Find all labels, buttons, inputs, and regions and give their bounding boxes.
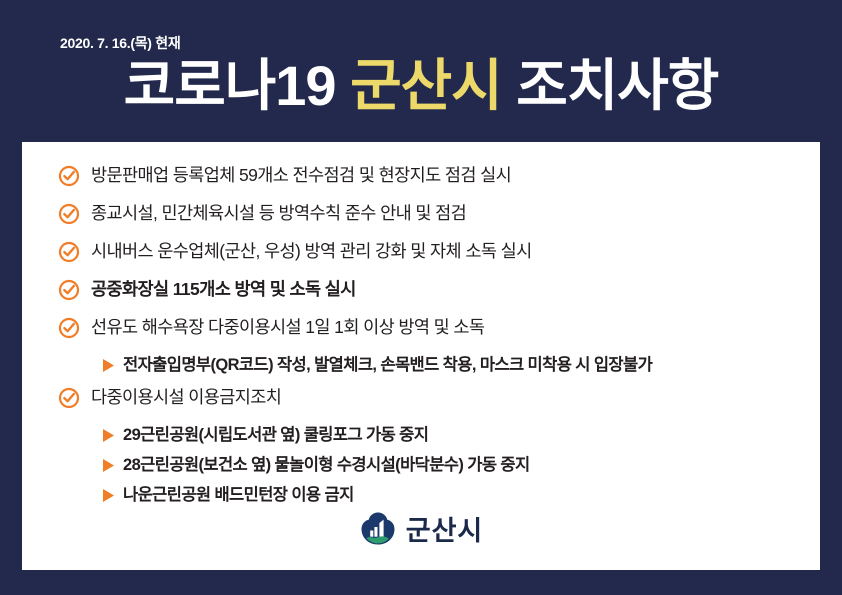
list-item-label: 시내버스 운수업체(군산, 우성) 방역 관리 강화 및 자체 소독 실시 — [91, 238, 532, 265]
title-part-covid: 코로나19 — [124, 54, 336, 117]
measure-group: 다중이용시설 이용금지조치 29근린공원(시립도서관 옆) 쿨링포그 가동 중지 — [58, 384, 798, 512]
check-circle-icon — [58, 317, 80, 339]
title-part-city: 군산시 — [350, 54, 502, 117]
date-label: 2020. 7. 16.(목) 현재 — [60, 33, 180, 53]
sub-list-item-label: 29근린공원(시립도서관 옆) 쿨링포그 가동 중지 — [123, 422, 428, 448]
list-item: 시내버스 운수업체(군산, 우성) 방역 관리 강화 및 자체 소독 실시 — [58, 238, 798, 274]
list-item-label: 공중화장실 115개소 방역 및 소독 실시 — [91, 276, 356, 303]
check-circle-icon — [58, 387, 80, 409]
list-item-label: 종교시설, 민간체육시설 등 방역수칙 준수 안내 및 점검 — [91, 200, 466, 227]
sub-list-item-label: 나운근린공원 배드민턴장 이용 금지 — [123, 482, 354, 508]
check-circle-icon — [58, 203, 80, 225]
list-item: 방문판매업 등록업체 59개소 전수점검 및 현장지도 점검 실시 — [58, 162, 798, 198]
poster-root: 2020. 7. 16.(목) 현재 코로나19 군산시 조치사항 방문판매업 … — [0, 0, 842, 595]
footer-logo-label: 군산시 — [406, 509, 484, 548]
list-item: 종교시설, 민간체육시설 등 방역수칙 준수 안내 및 점검 — [58, 200, 798, 236]
measure-group: 시내버스 운수업체(군산, 우성) 방역 관리 강화 및 자체 소독 실시 — [58, 238, 798, 274]
title-part-measures: 조치사항 — [516, 54, 718, 117]
triangle-bullet-icon — [103, 429, 114, 442]
measure-group: 종교시설, 민간체육시설 등 방역수칙 준수 안내 및 점검 — [58, 200, 798, 236]
measure-group: 공중화장실 115개소 방역 및 소독 실시 — [58, 276, 798, 312]
triangle-bullet-icon — [103, 359, 114, 372]
gunsan-city-logo-icon — [359, 510, 397, 548]
sub-list-item: 전자출입명부(QR코드) 작성, 발열체크, 손목밴드 착용, 마스크 미착용 … — [103, 352, 798, 382]
check-circle-icon — [58, 279, 80, 301]
page-title: 코로나19 군산시 조치사항 — [0, 58, 842, 114]
sub-list-item: 나운근린공원 배드민턴장 이용 금지 — [103, 482, 798, 512]
measure-group: 선유도 해수욕장 다중이용시설 1일 1회 이상 방역 및 소독 전자출입명부(… — [58, 314, 798, 382]
measure-group: 방문판매업 등록업체 59개소 전수점검 및 현장지도 점검 실시 — [58, 162, 798, 198]
list-item: 선유도 해수욕장 다중이용시설 1일 1회 이상 방역 및 소독 — [58, 314, 798, 350]
footer-logo: 군산시 — [22, 509, 820, 548]
list-item-label: 선유도 해수욕장 다중이용시설 1일 1회 이상 방역 및 소독 — [91, 314, 484, 341]
list-item-label: 다중이용시설 이용금지조치 — [91, 384, 281, 411]
check-circle-icon — [58, 165, 80, 187]
poster-header: 2020. 7. 16.(목) 현재 코로나19 군산시 조치사항 — [0, 0, 842, 142]
triangle-bullet-icon — [103, 489, 114, 502]
sub-list-item: 29근린공원(시립도서관 옆) 쿨링포그 가동 중지 — [103, 422, 798, 452]
measures-list: 방문판매업 등록업체 59개소 전수점검 및 현장지도 점검 실시 종교시설, … — [58, 162, 798, 514]
sub-list-item-label: 전자출입명부(QR코드) 작성, 발열체크, 손목밴드 착용, 마스크 미착용 … — [123, 352, 652, 378]
check-circle-icon — [58, 241, 80, 263]
content-card: 방문판매업 등록업체 59개소 전수점검 및 현장지도 점검 실시 종교시설, … — [22, 142, 820, 570]
sub-list-item: 28근린공원(보건소 옆) 물놀이형 수경시설(바닥분수) 가동 중지 — [103, 452, 798, 482]
list-item-label: 방문판매업 등록업체 59개소 전수점검 및 현장지도 점검 실시 — [91, 162, 511, 189]
sub-list-item-label: 28근린공원(보건소 옆) 물놀이형 수경시설(바닥분수) 가동 중지 — [123, 452, 530, 478]
triangle-bullet-icon — [103, 459, 114, 472]
list-item: 다중이용시설 이용금지조치 — [58, 384, 798, 420]
list-item: 공중화장실 115개소 방역 및 소독 실시 — [58, 276, 798, 312]
